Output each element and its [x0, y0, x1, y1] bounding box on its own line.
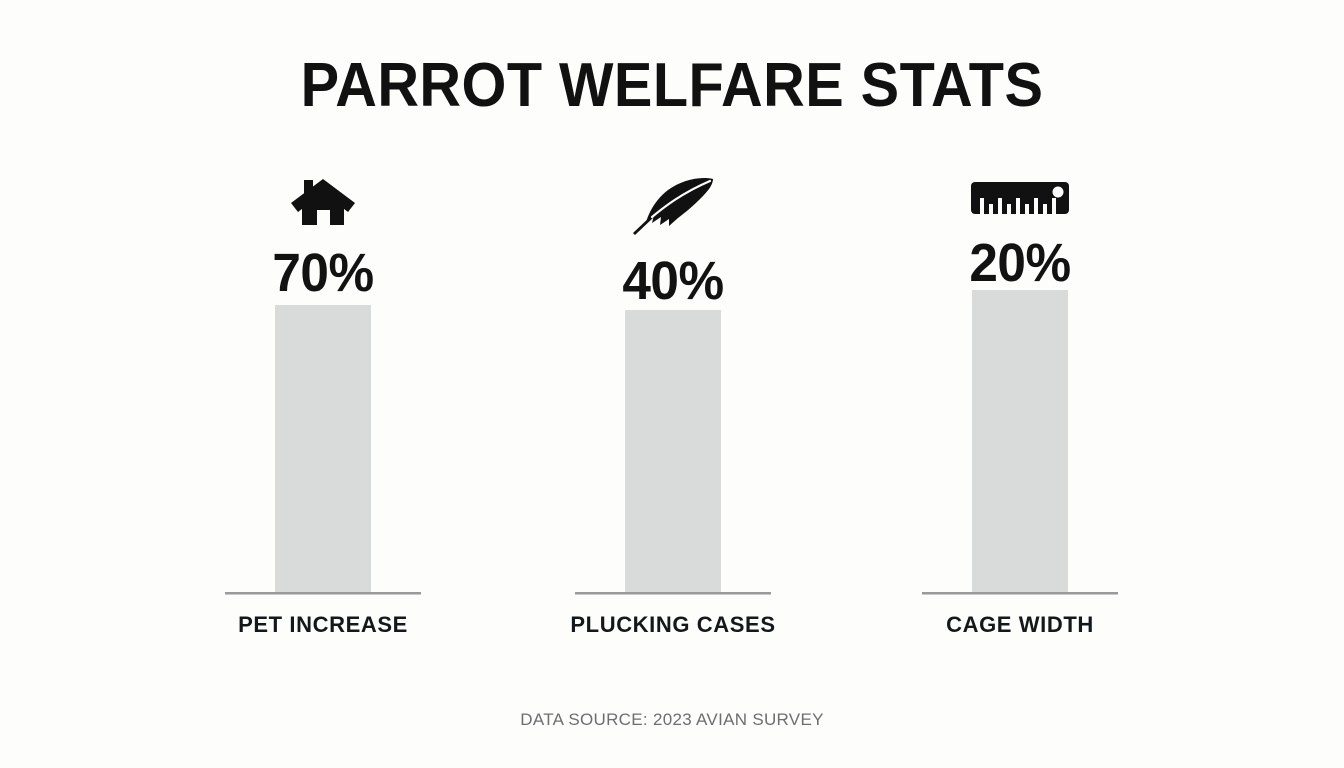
category-label: PLUCKING CASES: [545, 612, 801, 638]
category-label: CAGE WIDTH: [892, 612, 1148, 638]
feather-icon: [575, 176, 771, 236]
bar-columns: 70% PET INCREASE 40% PLUCKING CASES: [0, 0, 1344, 768]
stat-value: 40%: [580, 254, 766, 308]
baseline: [922, 592, 1118, 595]
bar-plucking-cases: [625, 310, 721, 594]
baseline: [575, 592, 771, 595]
ruler-icon: [922, 182, 1118, 222]
category-label: PET INCREASE: [195, 612, 451, 638]
stat-value: 20%: [927, 236, 1113, 290]
stat-column-cage-width: 20% CAGE WIDTH: [922, 0, 1118, 768]
stat-column-plucking-cases: 40% PLUCKING CASES: [575, 0, 771, 768]
stat-column-pet-increase: 70% PET INCREASE: [225, 0, 421, 768]
infographic-canvas: PARROT WELFARE STATS 70% PET INCREASE: [0, 0, 1344, 768]
bar-pet-increase: [275, 305, 371, 594]
data-source-note: DATA SOURCE: 2023 AVIAN SURVEY: [0, 710, 1344, 730]
house-icon: [225, 176, 421, 232]
stat-value: 70%: [230, 246, 416, 300]
baseline: [225, 592, 421, 595]
bar-cage-width: [972, 290, 1068, 594]
